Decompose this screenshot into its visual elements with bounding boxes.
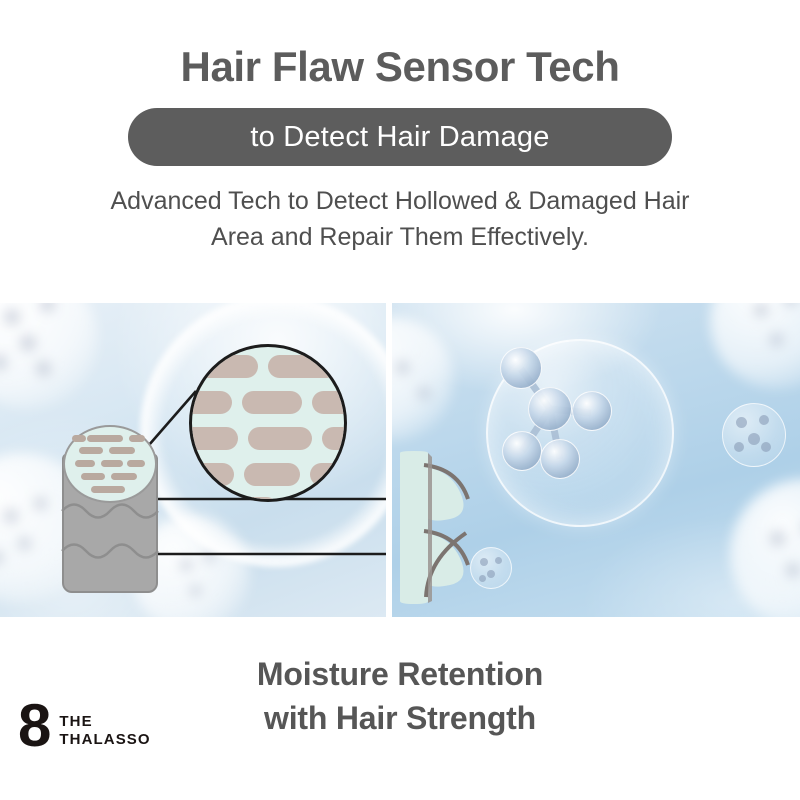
- atom-right: [572, 391, 612, 431]
- logo-wordmark: THE THALASSO: [59, 703, 150, 750]
- logo-the-text: THE: [59, 713, 150, 731]
- image-band: [0, 303, 800, 617]
- logo-brand-text: THALASSO: [59, 731, 150, 749]
- right-image-panel: [392, 303, 800, 617]
- atom-bottom: [540, 439, 580, 479]
- atom-bottomleft: [502, 431, 542, 471]
- pill-banner-label: to Detect Hair Damage: [250, 121, 549, 154]
- page-title: Hair Flaw Sensor Tech: [181, 46, 620, 88]
- atom-top: [500, 347, 542, 389]
- bottom-headline-line-1: Moisture Retention: [0, 653, 800, 697]
- molecule-bubble: [486, 339, 674, 527]
- hair-cuticle-scales-icon: [392, 451, 472, 611]
- brand-logo: 8 THE THALASSO: [18, 700, 151, 752]
- subtitle-line-2: Area and Repair Them Effectively.: [30, 220, 770, 256]
- magnifier-circle: [189, 344, 347, 502]
- poster-root: Hair Flaw Sensor Tech to Detect Hair Dam…: [0, 0, 800, 800]
- subtitle-block: Advanced Tech to Detect Hollowed & Damag…: [30, 184, 770, 255]
- small-molecule-bubble-bottom: [470, 547, 512, 589]
- hair-cross-section: [63, 425, 157, 503]
- atom-center: [528, 387, 572, 431]
- small-molecule-bubble-right: [722, 403, 786, 467]
- subtitle-pill-banner: to Detect Hair Damage: [128, 108, 672, 166]
- header-section: Hair Flaw Sensor Tech to Detect Hair Dam…: [0, 0, 800, 303]
- left-image-panel: [0, 303, 386, 617]
- subtitle-line-1: Advanced Tech to Detect Hollowed & Damag…: [30, 184, 770, 220]
- logo-eight-mark: 8: [18, 700, 50, 752]
